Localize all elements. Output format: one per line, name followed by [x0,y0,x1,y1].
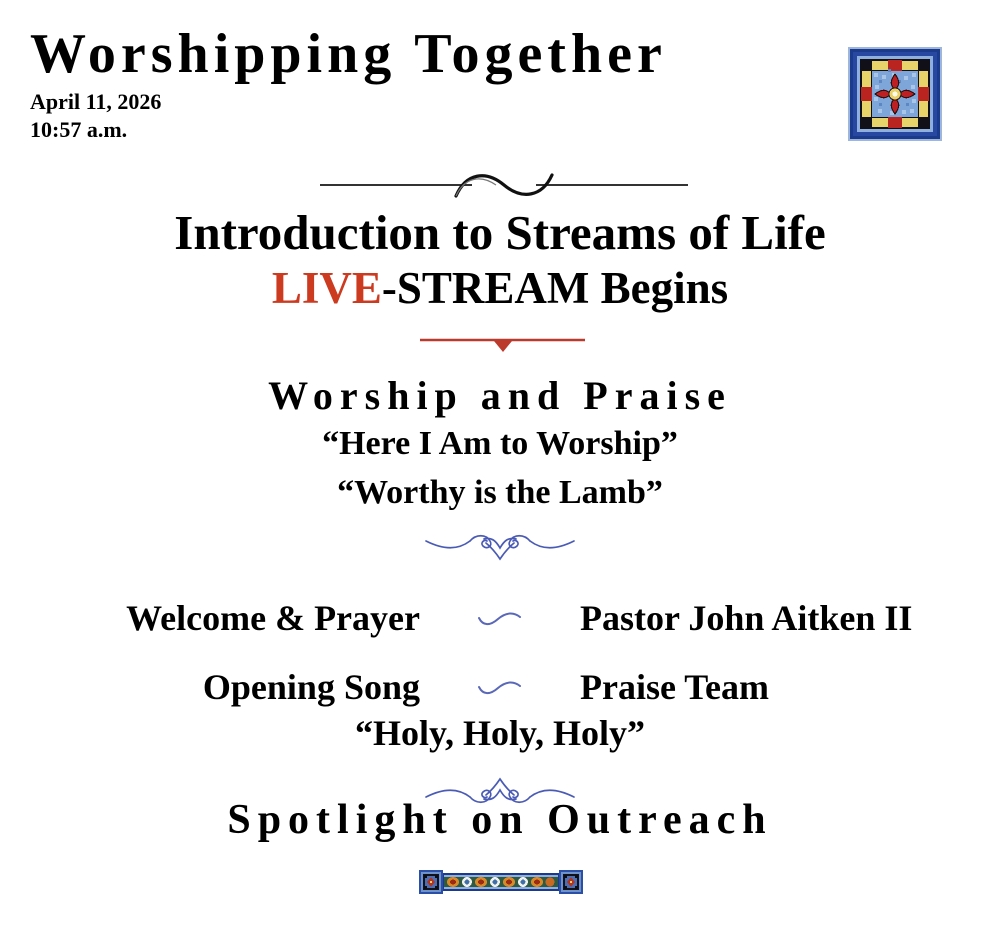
opening-song-title: “Holy, Holy, Holy” [0,712,1000,754]
stained-glass-tile-icon [848,47,942,141]
worship-and-praise-section: Worship and Praise “Here I Am to Worship… [0,374,1000,516]
blue-swash-icon [420,677,580,697]
blue-flourish-icon [424,528,576,562]
service-item-label: Opening Song [0,666,420,708]
red-line-triangle-divider-icon [0,331,1000,353]
worship-heading: Worship and Praise [0,374,1000,418]
page-title: Worshipping Together [30,26,790,83]
worship-song-2: “Worthy is the Lamb” [0,471,1000,516]
bulletin-header: Worshipping Together April 11, 2026 10:5… [30,26,790,143]
service-item-person: Pastor John Aitken II [580,597,1000,639]
livestream-announcement: Introduction to Streams of Life LIVE-STR… [0,206,1000,314]
service-time: 10:57 a.m. [30,117,790,143]
service-row: Welcome & Prayer Pastor John Aitken II [0,592,1000,644]
swash-rule-divider-icon [320,168,688,202]
service-row: Opening Song Praise Team [0,661,1000,713]
spotlight-heading: Spotlight on Outreach [0,796,1000,844]
service-item-person: Praise Team [580,666,1000,708]
live-highlight: LIVE [272,263,382,313]
livestream-title-line1: Introduction to Streams of Life [0,206,1000,261]
service-item-label: Welcome & Prayer [0,597,420,639]
livestream-title-line2: LIVE-STREAM Begins [0,263,1000,314]
service-date: April 11, 2026 [30,89,790,115]
livestream-rest: -STREAM Begins [382,263,728,313]
stained-glass-bar-icon [419,870,583,894]
worship-song-1: “Here I Am to Worship” [0,422,1000,467]
blue-swash-icon [420,608,580,628]
